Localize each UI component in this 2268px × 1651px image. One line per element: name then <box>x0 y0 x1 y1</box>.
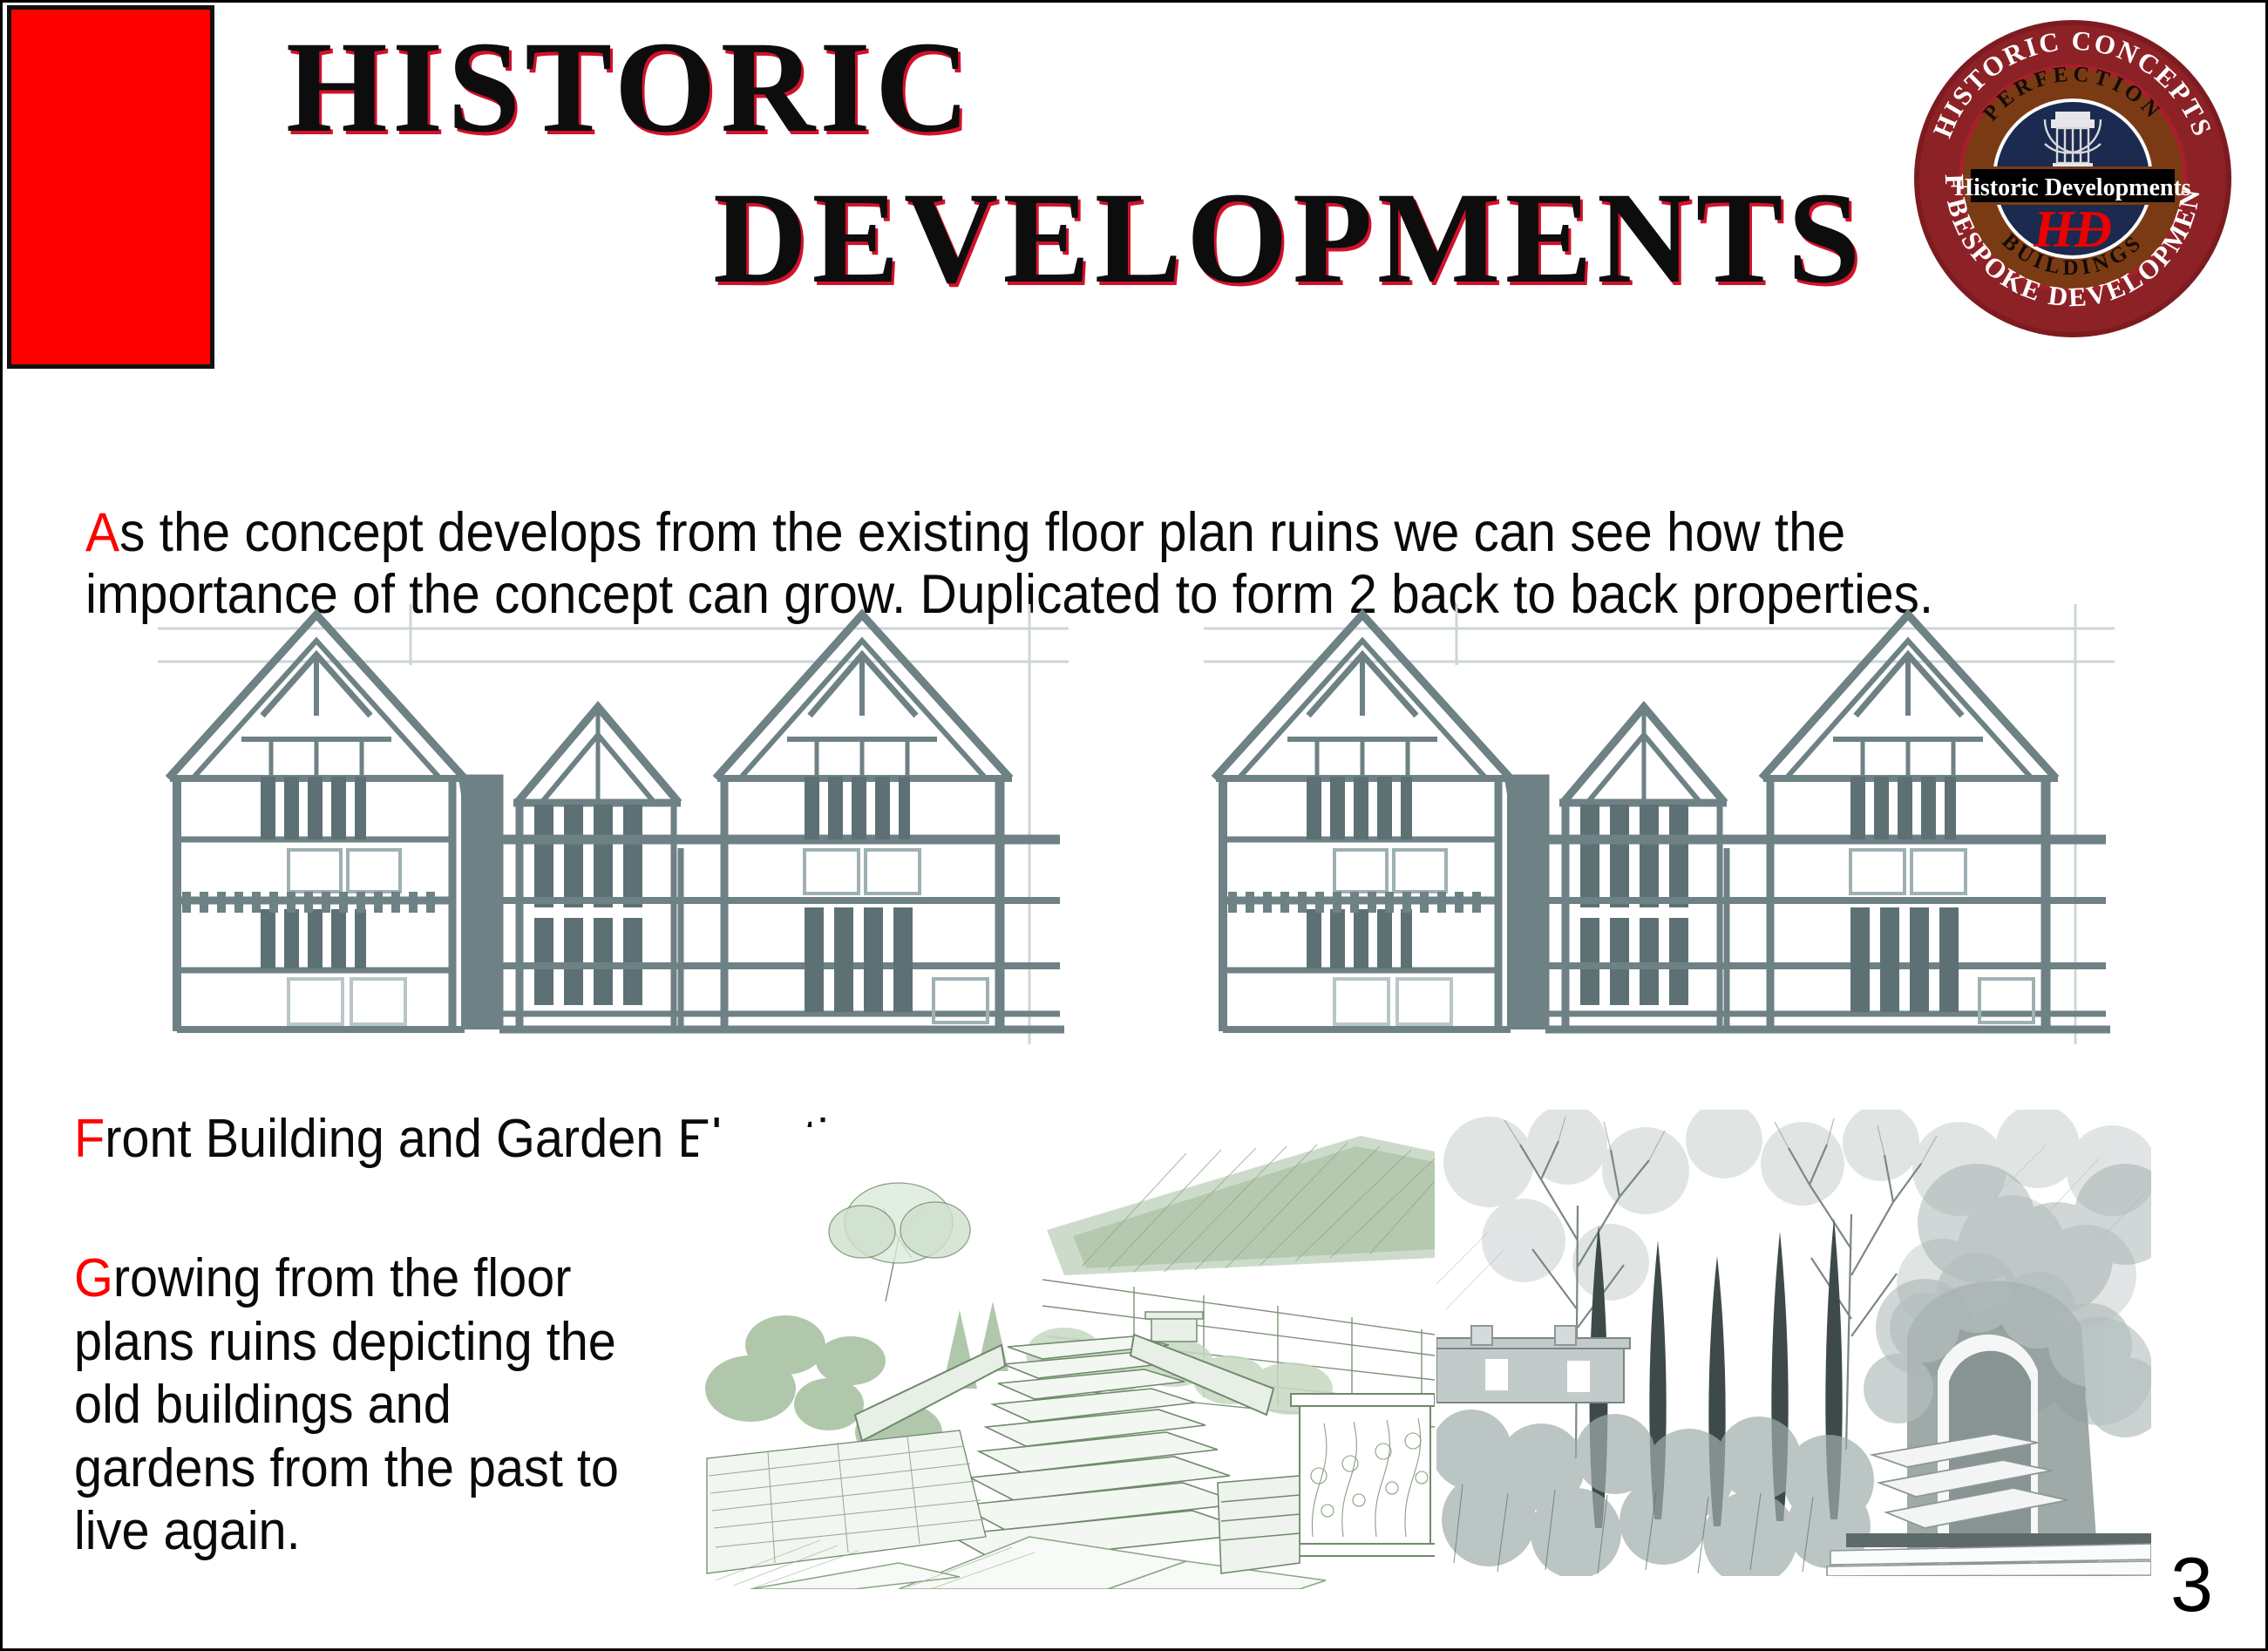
page-title: HISTORIC DEVELOPMENTS <box>221 11 2007 360</box>
company-logo-seal: HISTORIC CONCEPTS OF BESPOKE DEVELOPMENT… <box>1907 13 2238 344</box>
red-accent-block <box>7 5 214 369</box>
figure-elevation-left <box>158 604 1069 1044</box>
caption-front-drop-cap: F <box>74 1109 105 1169</box>
logo-banner-text: Historic Developments <box>1954 174 2190 201</box>
page-number: 3 <box>2170 1540 2213 1629</box>
figure-garden-grey-sketch <box>1436 1110 2151 1576</box>
caption-grow-drop-cap: G <box>74 1248 113 1308</box>
slide-canvas: HISTORIC DEVELOPMENTS HISTORIC CONCEPTS … <box>0 0 2268 1651</box>
caption-grow-text: rowing from the floor plans ruins depict… <box>74 1248 619 1561</box>
figure-elevation-right <box>1204 604 2115 1044</box>
caption-growing-paragraph: Growing from the floor plans ruins depic… <box>74 1247 634 1564</box>
intro-drop-cap: A <box>85 502 119 563</box>
figure-garden-green-sketch <box>698 1127 1435 1589</box>
title-line-developments: DEVELOPMENTS <box>713 173 1865 303</box>
title-line-historic: HISTORIC <box>286 22 974 153</box>
